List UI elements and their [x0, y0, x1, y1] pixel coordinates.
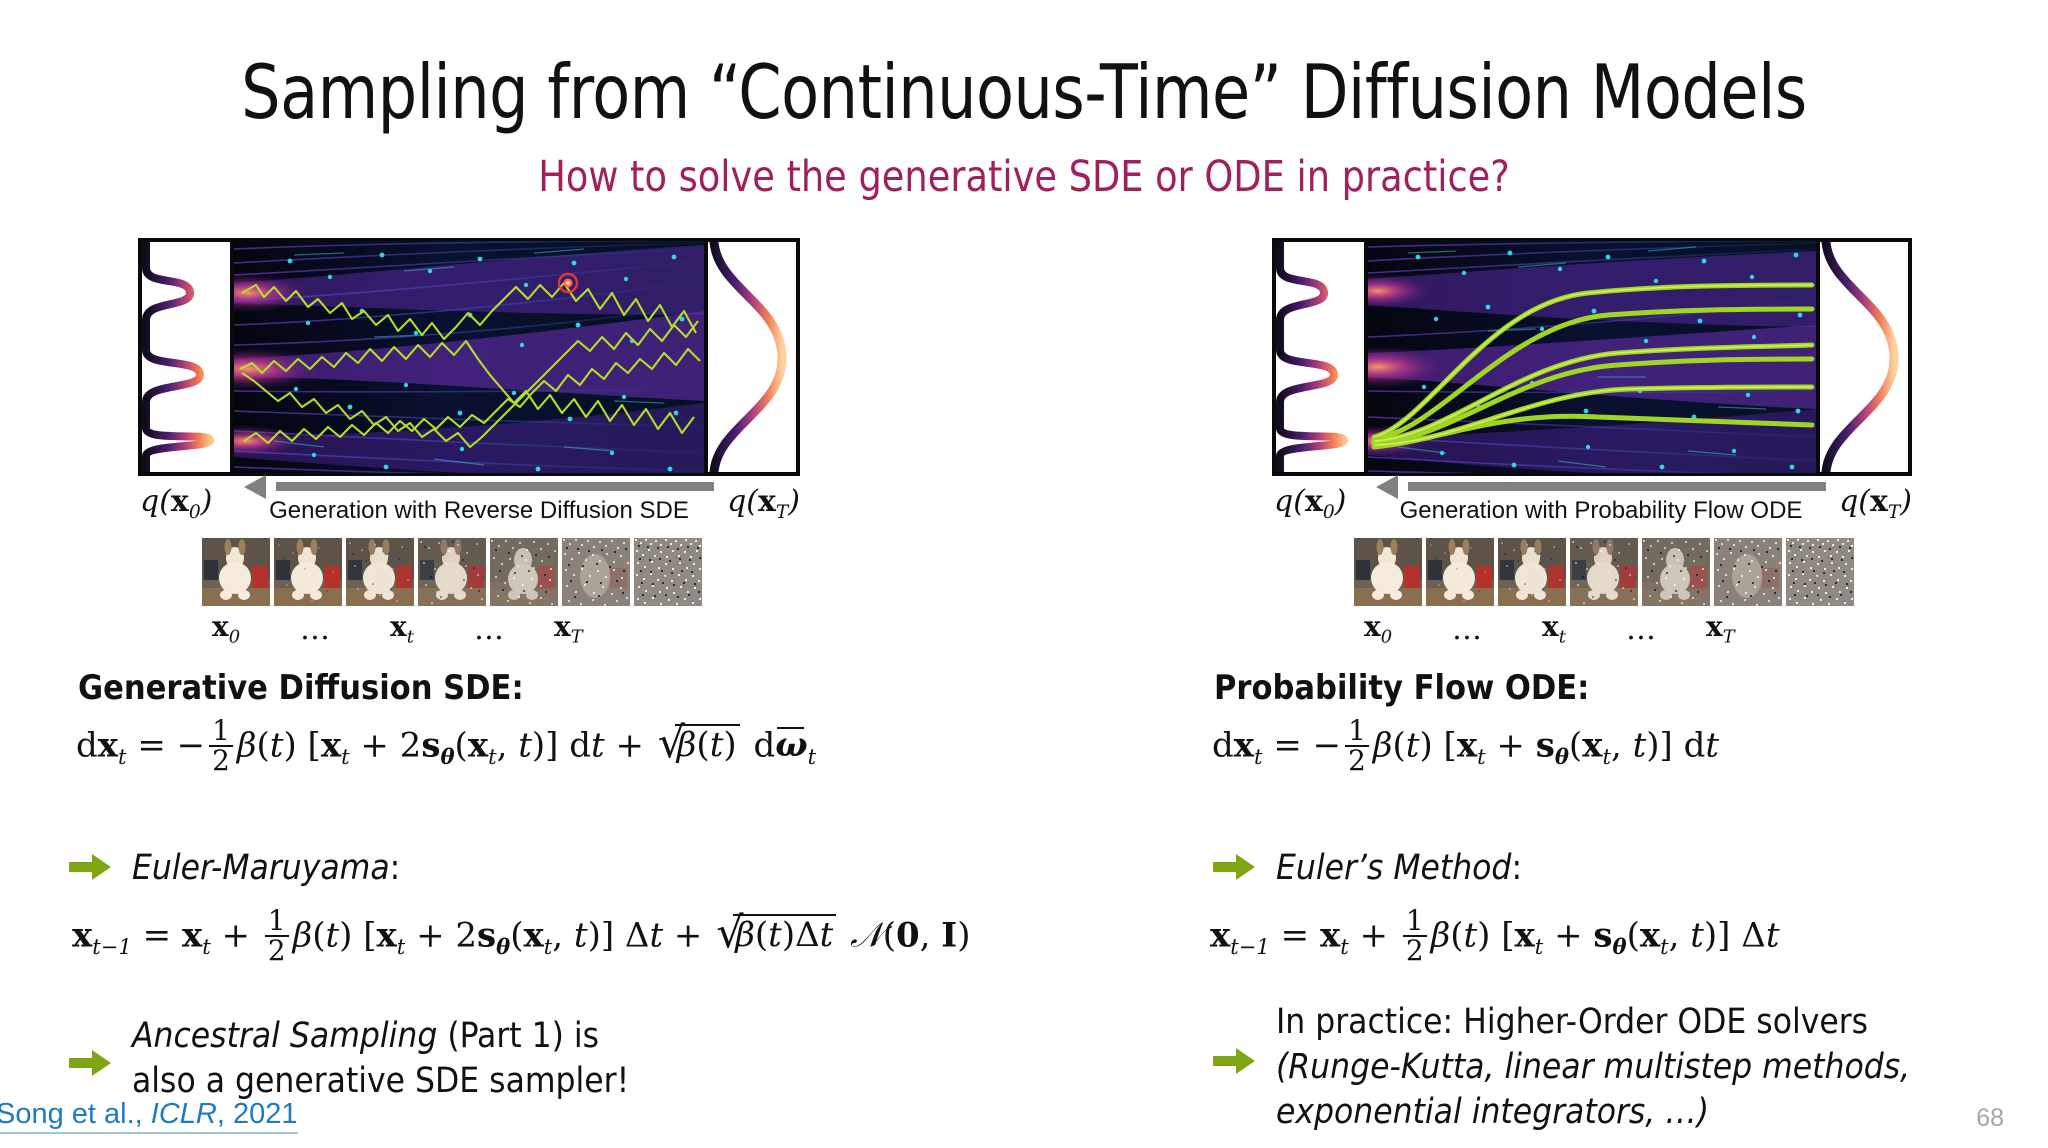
strip-label-xT: xT	[1706, 610, 1735, 648]
q-x0-label: q(x0)	[140, 484, 212, 523]
right-noising-strip: x0 … xt … xT	[1354, 538, 1854, 652]
probability-flow-field	[1368, 238, 1816, 476]
reverse-sde-caption-row: q(x0) Generation with Reverse Diffusion …	[138, 478, 800, 526]
left-strip-labels: x0 … xt … xT	[202, 610, 702, 652]
strip-ellipsis-2: …	[1626, 612, 1658, 647]
citation-year: , 2021	[217, 1098, 298, 1130]
strip-ellipsis-1: …	[1452, 612, 1484, 647]
bunny-image-4	[1642, 538, 1710, 606]
left-noising-strip: x0 … xt … xT	[202, 538, 702, 652]
bunny-image-2	[1498, 538, 1566, 606]
page-subtitle: How to solve the generative SDE or ODE i…	[51, 152, 1997, 202]
citation-venue: ICLR	[151, 1098, 217, 1130]
bunny-image-5	[1714, 538, 1782, 606]
eulers-method-equation: xt−1 = xt + 12β(t) [xt + sθ(xt, t)] Δt	[1210, 908, 1779, 967]
bunny-image-0	[1354, 538, 1422, 606]
bullet-arrow-icon	[1212, 1046, 1256, 1076]
multimodal-density-curve-icon	[142, 242, 230, 472]
q-xT-label: q(xT)	[727, 484, 800, 523]
bullet-arrow-icon	[68, 1048, 112, 1078]
ode-solvers-line3: exponential integrators, …)	[1276, 1090, 1910, 1135]
strip-thumbnail	[1714, 538, 1782, 606]
ode-solvers-bullet: In practice: Higher-Order ODE solvers (R…	[1276, 1000, 1910, 1134]
generation-direction-arrow-group: Generation with Reverse Diffusion SDE	[244, 478, 714, 525]
strip-thumbnail	[634, 538, 702, 606]
strip-thumbnail	[1426, 538, 1494, 606]
strip-thumbnail	[418, 538, 486, 606]
strip-label-x0: x0	[212, 610, 240, 648]
q-x0-distribution-panel	[1272, 238, 1368, 476]
strip-ellipsis-2: …	[474, 612, 506, 647]
bunny-image-0	[202, 538, 270, 606]
strip-thumbnail	[1642, 538, 1710, 606]
strip-ellipsis-1: …	[300, 612, 332, 647]
strip-thumbnail	[1570, 538, 1638, 606]
left-arrow-icon	[244, 478, 714, 494]
bunny-image-1	[1426, 538, 1494, 606]
strip-thumbnail	[1786, 538, 1854, 606]
ancestral-sampling-line2: also a generative SDE sampler!	[132, 1059, 629, 1104]
bunny-image-2	[346, 538, 414, 606]
generative-sde-heading: Generative Diffusion SDE:	[78, 668, 524, 708]
bunny-image-6-pure-noise	[1786, 538, 1854, 606]
strip-thumbnail	[562, 538, 630, 606]
generation-direction-arrow-group: Generation with Probability Flow ODE	[1376, 478, 1826, 525]
bunny-image-3	[418, 538, 486, 606]
gaussian-density-curve-icon	[708, 242, 796, 472]
multimodal-density-curve-icon	[1276, 242, 1364, 472]
euler-maruyama-bullet-label: Euler-Maruyama:	[132, 846, 400, 891]
bullet-arrow-icon	[1212, 852, 1256, 882]
ode-solvers-line1: In practice: Higher-Order ODE solvers	[1276, 1000, 1910, 1045]
source-citation[interactable]: Song et al., ICLR, 2021	[0, 1098, 298, 1134]
reverse-sde-caption: Generation with Reverse Diffusion SDE	[244, 497, 714, 525]
strip-label-xT: xT	[554, 610, 583, 648]
probability-flow-caption-row: q(x0) Generation with Probability Flow O…	[1272, 478, 1912, 526]
q-x0-label: q(x0)	[1274, 484, 1346, 523]
bunny-image-5	[562, 538, 630, 606]
probability-flow-ode-figure: q(x0) Generation with Probability Flow O…	[1272, 238, 1912, 526]
ode-solvers-line2: (Runge-Kutta, linear multistep methods,	[1276, 1045, 1910, 1090]
probability-flow-ode-equation: dxt = −12β(t) [xt + sθ(xt, t)] dt	[1212, 718, 1719, 777]
citation-authors: Song et al.,	[0, 1098, 151, 1130]
q-xT-label: q(xT)	[1839, 484, 1912, 523]
bunny-image-4	[490, 538, 558, 606]
probability-flow-ode-heading: Probability Flow ODE:	[1214, 668, 1589, 708]
strip-thumbnail	[274, 538, 342, 606]
page-title: Sampling from “Continuous-Time” Diffusio…	[82, 48, 1966, 136]
generative-sde-equation: dxt = −12β(t) [xt + 2sθ(xt, t)] dt + √β(…	[76, 718, 816, 777]
strip-thumbnail	[346, 538, 414, 606]
sde-trajectory-plot	[234, 241, 704, 476]
bunny-image-1	[274, 538, 342, 606]
slide-number: 68	[1976, 1104, 2004, 1133]
reverse-sde-figure: q(x0) Generation with Reverse Diffusion …	[138, 238, 800, 526]
probability-flow-caption: Generation with Probability Flow ODE	[1376, 497, 1826, 525]
right-strip-labels: x0 … xt … xT	[1354, 610, 1854, 652]
strip-label-x0: x0	[1364, 610, 1392, 648]
q-x0-distribution-panel	[138, 238, 234, 476]
strip-label-xt: xt	[1542, 610, 1566, 648]
eulers-method-bullet-label: Euler’s Method:	[1276, 846, 1522, 891]
ancestral-sampling-bullet: Ancestral Sampling (Part 1) is also a ge…	[132, 1014, 629, 1104]
euler-maruyama-equation: xt−1 = xt + 12β(t) [xt + 2sθ(xt, t)] Δt …	[72, 908, 970, 967]
bullet-arrow-icon	[68, 852, 112, 882]
ode-trajectory-plot	[1368, 241, 1816, 476]
q-xT-distribution-panel	[704, 238, 800, 476]
q-xT-distribution-panel	[1816, 238, 1912, 476]
bunny-image-3	[1570, 538, 1638, 606]
strip-thumbnail	[1498, 538, 1566, 606]
strip-thumbnail	[490, 538, 558, 606]
strip-thumbnail	[202, 538, 270, 606]
gaussian-density-curve-icon	[1820, 242, 1908, 472]
reverse-diffusion-field	[234, 238, 704, 476]
strip-label-xt: xt	[390, 610, 414, 648]
left-arrow-icon	[1376, 478, 1826, 494]
bunny-image-6-pure-noise	[634, 538, 702, 606]
strip-thumbnail	[1354, 538, 1422, 606]
